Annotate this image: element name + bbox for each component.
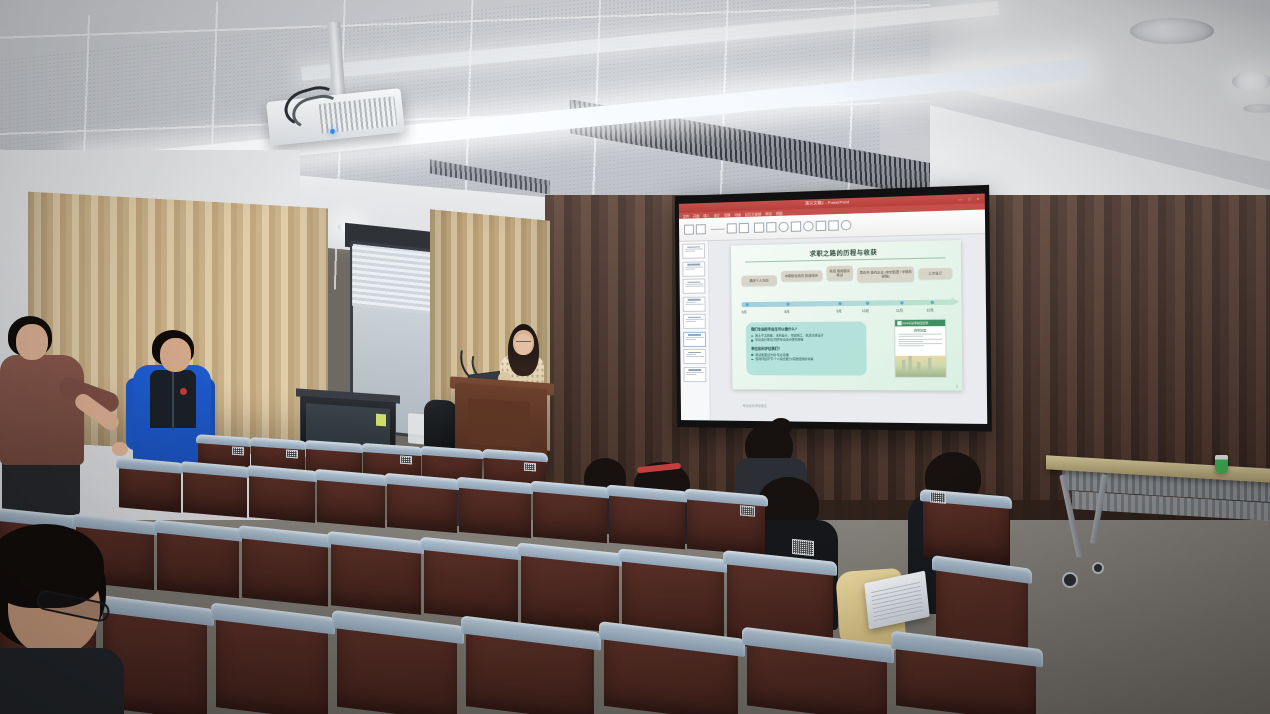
powerpoint-window: 演示文稿1 - PowerPoint — □ × 文件 开始 插入 设计 切换 … (679, 194, 987, 424)
slide-thumbnail[interactable] (682, 243, 705, 259)
slide-poster-image: 2024年秋季校园招聘 招聘简章 (894, 319, 947, 378)
font-name-box[interactable] (711, 228, 725, 229)
ribbon-group-clipboard[interactable] (684, 224, 706, 235)
find-icon[interactable] (828, 220, 839, 231)
folding-table-caster (1092, 562, 1104, 574)
cut-icon[interactable] (696, 224, 706, 234)
poster-photo (895, 356, 945, 377)
month-label: 8月 (784, 309, 789, 314)
qa-question-1: 我们专业的毕业生可以做什么? (751, 326, 861, 332)
asset-qr-tag (286, 450, 298, 459)
slide-thumbnail[interactable] (683, 349, 706, 364)
lectern-front-panel (468, 398, 530, 448)
powerpoint-title-text: 演示文稿1 - PowerPoint (805, 199, 849, 207)
italic-icon[interactable] (739, 223, 749, 233)
presenter-glasses (516, 341, 531, 346)
tab-animations[interactable]: 动画 (734, 211, 740, 216)
person-standing-brown-head (16, 324, 48, 360)
poster-header: 2024年秋季校园招聘 (895, 320, 945, 327)
ribbon-group-paragraph[interactable] (754, 220, 851, 233)
ceiling-speaker-secondary (1243, 104, 1270, 113)
ceiling-speaker (1130, 18, 1214, 44)
ribbon-group-font[interactable] (711, 223, 749, 234)
month-label: 10月 (862, 308, 869, 313)
asset-qr-tag (524, 463, 536, 472)
bullet-list-icon[interactable] (754, 222, 764, 232)
recessed-downlight (1232, 72, 1270, 91)
person-seated-bun-hair-knot (770, 418, 792, 436)
shape-fill-icon[interactable] (816, 221, 827, 232)
folding-table-caster (1062, 572, 1078, 588)
person-standing-blue-zipper (172, 370, 174, 430)
qa-question-2: 单位如何评估我们? (751, 345, 861, 350)
person-standing-brown-torso (0, 355, 84, 465)
tab-insert[interactable]: 插入 (703, 212, 709, 217)
slide-editing-stage[interactable]: 求职之路的历程与收获 确定个人方向 中期优化简历 投递简历 秋招 各类面试 笔试… (709, 234, 987, 424)
tab-slideshow[interactable]: 幻灯片放映 (745, 211, 761, 217)
timeline-arrow (742, 300, 953, 308)
slide-number: 6 (956, 385, 958, 388)
equation-icon[interactable] (841, 220, 852, 231)
slide-thumbnail[interactable] (683, 278, 706, 293)
projection-screen: 演示文稿1 - PowerPoint — □ × 文件 开始 插入 设计 切换 … (675, 185, 992, 432)
asset-qr-tag (930, 491, 946, 503)
tab-view[interactable]: 视图 (776, 210, 783, 215)
slide-thumbnail[interactable] (683, 296, 706, 311)
coffee-cup (1215, 455, 1228, 473)
asset-qr-tag (232, 447, 244, 456)
person-seated-front-torso (0, 648, 124, 714)
projector-status-led (330, 129, 335, 134)
person-standing-blue-head (160, 338, 191, 372)
tab-transitions[interactable]: 切换 (724, 212, 730, 217)
asset-qr-tag (740, 505, 755, 516)
av-rack-label (376, 414, 386, 427)
slide-thumbnail[interactable] (682, 261, 705, 277)
qa-item: 毕业设计单位:同济专业设计研究院等 (751, 337, 861, 342)
slide-thumbnail-panel[interactable] (679, 241, 711, 421)
align-left-icon[interactable] (766, 222, 776, 232)
month-label: 11月 (896, 308, 903, 313)
tab-review[interactable]: 审阅 (765, 210, 772, 215)
poster-header-text: 2024年秋季校园招聘 (902, 321, 928, 325)
quick-styles-icon[interactable] (803, 221, 813, 232)
slide-thumbnail[interactable] (683, 314, 706, 329)
arrange-icon[interactable] (791, 221, 801, 232)
backpack (424, 399, 458, 453)
timeline-stage-boxes: 确定个人方向 中期优化简历 投递简历 秋招 各类面试 笔试 意向书 签约企业 (… (741, 264, 952, 287)
shapes-icon[interactable] (778, 222, 788, 233)
current-slide[interactable]: 求职之路的历程与收获 确定个人方向 中期优化简历 投递简历 秋招 各类面试 笔试… (731, 240, 962, 391)
month-label: 12月 (926, 307, 933, 312)
qa-item: 现场评估环节:个人综合能力/实践经验的考察 (751, 357, 861, 362)
person-standing-blue-logo (180, 388, 187, 395)
slide-thumbnail[interactable] (683, 367, 706, 382)
asset-qr-tag (792, 539, 814, 556)
timeline-stage: 中期优化简历 投递简历 (781, 270, 823, 281)
tab-file[interactable]: 文件 (683, 213, 689, 218)
notes-placeholder[interactable]: 单击此处添加备注 (743, 404, 767, 408)
timeline-stage: 秋招 各类面试 笔试 (826, 265, 853, 280)
slide-thumbnail-selected[interactable] (683, 331, 706, 346)
status-slide-count: 幻灯片 第 6 张,共 8 张 (685, 423, 714, 424)
month-label: 6月 (742, 309, 747, 314)
timeline-stage: 三方签订 (918, 268, 952, 279)
poster-title: 招聘简章 (895, 328, 945, 333)
tab-home[interactable]: 开始 (693, 213, 699, 218)
lecture-hall-photo: 演示文稿1 - PowerPoint — □ × 文件 开始 插入 设计 切换 … (0, 0, 1270, 714)
month-label: 9月 (836, 308, 841, 313)
asset-qr-tag (400, 456, 412, 465)
timeline-stage: 确定个人方向 (741, 275, 776, 286)
paste-icon[interactable] (684, 224, 694, 234)
bold-icon[interactable] (727, 223, 737, 233)
powerpoint-body: 求职之路的历程与收获 确定个人方向 中期优化简历 投递简历 秋招 各类面试 笔试… (679, 234, 987, 424)
tab-design[interactable]: 设计 (714, 212, 720, 217)
poster-logo-icon (897, 321, 901, 325)
timeline-stage: 意向书 签约企业 (中交集团 / 中铁科研院) (857, 266, 914, 282)
window-controls[interactable]: — □ × (958, 195, 981, 201)
slide-qa-card: 我们专业的毕业生可以做什么? 岩土不太勘察、水利设计、市政施工、轨道交通设计 毕… (746, 321, 867, 375)
timeline-month-labels: 6月 8月 9月 10月 11月 12月 (742, 307, 953, 317)
window-blind (352, 246, 432, 314)
